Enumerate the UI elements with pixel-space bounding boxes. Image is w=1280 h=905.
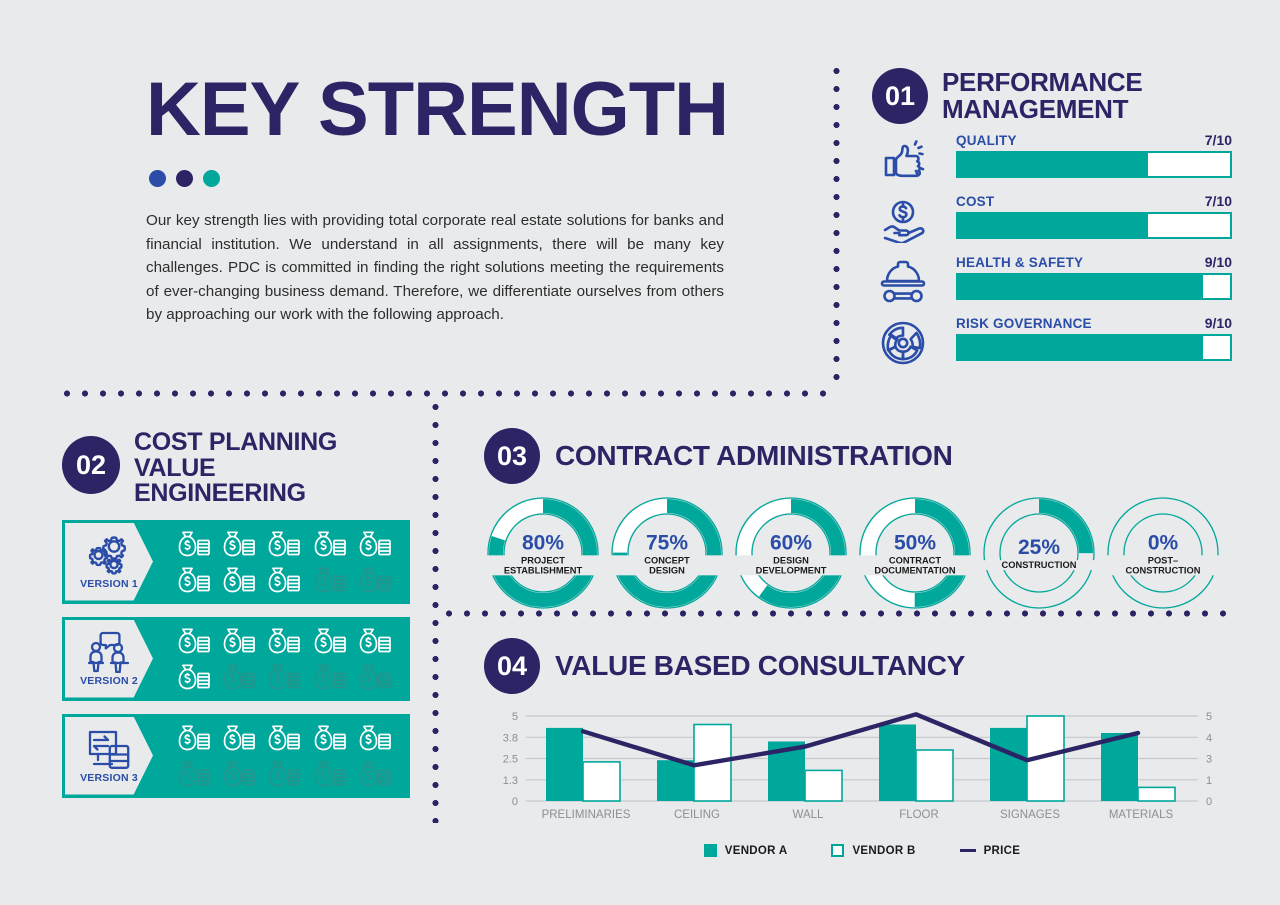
donut-center-text: 60% DESIGNDEVELOPMENT: [732, 532, 850, 575]
brand-dots: [149, 170, 746, 187]
svg-text:WALL: WALL: [793, 809, 824, 821]
y-axis-left-labels: 5 3.8 2.5 1.3 0: [503, 711, 518, 808]
svg-text:3: 3: [1206, 754, 1212, 766]
data-sync-icon: [86, 727, 132, 771]
svg-text:5: 5: [1206, 711, 1212, 723]
donut-chart: 60% DESIGNDEVELOPMENT: [732, 494, 850, 612]
svg-text:5: 5: [512, 711, 518, 723]
legend-swatch-outline-square-icon: [831, 844, 844, 857]
donut-percent: 25%: [980, 537, 1098, 558]
version-label: VERSION 1: [80, 578, 138, 590]
money-bag-icon: [353, 526, 398, 562]
donut-center-text: 75% CONCEPTDESIGN: [608, 532, 726, 575]
hard-hat-icon: [872, 258, 934, 306]
money-bag-icon-dim: [307, 756, 352, 792]
metric-progress-fill: [958, 214, 1148, 237]
metric-score: 9/10: [1205, 254, 1232, 270]
metric-progress-fill: [958, 153, 1148, 176]
svg-text:1: 1: [1206, 775, 1212, 787]
donut-label: CONCEPTDESIGN: [608, 555, 726, 575]
svg-text:FLOOR: FLOOR: [899, 809, 939, 821]
money-bag-icon: [216, 562, 261, 598]
version-row[interactable]: VERSION 1: [62, 520, 410, 604]
section02-title-line1: COST PLANNING: [134, 430, 337, 456]
metric-label: QUALITY: [956, 133, 1017, 148]
donut-label: CONTRACTDOCUMENTATION: [856, 555, 974, 575]
legend-item-vendor-b[interactable]: VENDOR B: [831, 844, 915, 857]
legend-label: VENDOR B: [852, 845, 915, 857]
version-label: VERSION 3: [80, 772, 138, 784]
chart-legend: VENDOR A VENDOR B PRICE: [484, 844, 1240, 857]
money-bag-icon-dim: [262, 756, 307, 792]
legend-swatch-line-icon: [960, 849, 976, 852]
donut-percent: 60%: [732, 532, 850, 553]
donut-percent: 50%: [856, 532, 974, 553]
brand-dot-2: [176, 170, 193, 187]
money-bag-icon: [307, 720, 352, 756]
section-contract-administration: 03 CONTRACT ADMINISTRATION 80% PROJECTES…: [484, 428, 1240, 612]
svg-text:PRELIMINARIES: PRELIMINARIES: [542, 809, 631, 821]
metric-row: QUALITY 7/10: [872, 132, 1232, 185]
section01-title: PERFORMANCE MANAGEMENT: [942, 69, 1142, 122]
money-bag-icon: [171, 623, 216, 659]
version-tag: VERSION 3: [65, 717, 153, 795]
version-tag: VERSION 1: [65, 523, 153, 601]
intro-paragraph: Our key strength lies with providing tot…: [146, 209, 724, 327]
svg-text:SIGNAGES: SIGNAGES: [1000, 809, 1060, 821]
donut-center-text: 50% CONTRACTDOCUMENTATION: [856, 532, 974, 575]
donut-chart: 25% CONSTRUCTION: [980, 494, 1098, 612]
money-bag-icon: [307, 623, 352, 659]
section03-number-badge: 03: [484, 428, 540, 484]
y-axis-right-labels: 5 4 3 1 0: [1206, 711, 1212, 808]
money-bag-icon: [216, 526, 261, 562]
section-value-based-consultancy: 04 VALUE BASED CONSULTANCY 5 3.8 2.5: [484, 638, 1240, 856]
money-bag-icon: [216, 623, 261, 659]
svg-text:4: 4: [1206, 732, 1212, 744]
hero-block: KEY STRENGTH Our key strength lies with …: [146, 72, 746, 327]
donut-label: DESIGNDEVELOPMENT: [732, 555, 850, 575]
metric-progress-bar: [956, 151, 1232, 178]
money-bag-icon: [353, 720, 398, 756]
svg-text:0: 0: [1206, 796, 1212, 808]
money-bag-icon-dim: [353, 562, 398, 598]
donut-percent: 80%: [484, 532, 602, 553]
infographic-page: KEY STRENGTH Our key strength lies with …: [0, 0, 1280, 905]
section01-number-badge: 01: [872, 68, 928, 124]
donut-percent: 75%: [608, 532, 726, 553]
donut-center-text: 25% CONSTRUCTION: [980, 537, 1098, 570]
radiation-icon: [872, 319, 934, 367]
page-title: KEY STRENGTH: [146, 72, 746, 148]
section-cost-planning: 02 COST PLANNING VALUE ENGINEERING: [62, 430, 410, 798]
metric-row: RISK GOVERNANCE 9/10: [872, 315, 1232, 368]
money-bag-icon-dim: [307, 562, 352, 598]
donut-chart: 75% CONCEPTDESIGN: [608, 494, 726, 612]
metric-row: HEALTH & SAFETY 9/10: [872, 254, 1232, 307]
gears-icon: [87, 533, 131, 577]
donut-label: CONSTRUCTION: [980, 560, 1098, 570]
section03-header: 03 CONTRACT ADMINISTRATION: [484, 428, 1240, 484]
version-row[interactable]: VERSION 3: [62, 714, 410, 798]
section-performance-management: 01 PERFORMANCE MANAGEMENT: [872, 68, 1232, 368]
version-tag: VERSION 2: [65, 620, 153, 698]
section01-header: 01 PERFORMANCE MANAGEMENT: [872, 68, 1232, 124]
donut-label: POST–CONSTRUCTION: [1104, 555, 1222, 575]
meeting-icon: [86, 630, 132, 674]
money-bag-icon: [353, 623, 398, 659]
section01-title-line1: PERFORMANCE: [942, 69, 1142, 96]
metric-row: COST 7/10: [872, 193, 1232, 246]
section03-title: CONTRACT ADMINISTRATION: [555, 442, 953, 471]
donut-center-text: 80% PROJECTESTABLISHMENT: [484, 532, 602, 575]
metric-progress-bar: [956, 212, 1232, 239]
metric-score: 9/10: [1205, 315, 1232, 331]
money-bag-icon: [171, 562, 216, 598]
section01-title-line2: MANAGEMENT: [942, 96, 1142, 123]
donut-chart: 50% CONTRACTDOCUMENTATION: [856, 494, 974, 612]
money-bag-icon-dim: [353, 756, 398, 792]
money-bag-grid: [153, 522, 410, 602]
divider-horizontal-top: [58, 390, 830, 397]
section04-number-badge: 04: [484, 638, 540, 694]
money-bag-icon: [262, 526, 307, 562]
money-bag-icon: [262, 623, 307, 659]
metric-label: HEALTH & SAFETY: [956, 255, 1083, 270]
money-bag-icon: [307, 526, 352, 562]
chart-canvas: 5 3.8 2.5 1.3 0 5 4 3 1 0: [484, 706, 1240, 846]
section02-header: 02 COST PLANNING VALUE ENGINEERING: [62, 430, 410, 507]
brand-dot-1: [149, 170, 166, 187]
money-bag-grid: [153, 619, 410, 699]
money-bag-icon: [262, 562, 307, 598]
svg-text:MATERIALS: MATERIALS: [1109, 809, 1174, 821]
x-axis-labels: PRELIMINARIES CEILING WALL FLOOR SIGNAGE…: [542, 809, 1174, 821]
bar-chart: 5 3.8 2.5 1.3 0 5 4 3 1 0: [484, 706, 1240, 856]
svg-text:1.3: 1.3: [503, 775, 518, 787]
money-bag-icon: [171, 659, 216, 695]
svg-text:CEILING: CEILING: [674, 809, 720, 821]
version-label: VERSION 2: [80, 675, 138, 687]
thumbs-up-icon: [872, 136, 934, 184]
donut-center-text: 0% POST–CONSTRUCTION: [1104, 532, 1222, 575]
divider-vertical-right: [833, 62, 840, 384]
money-bag-icon-dim: [307, 659, 352, 695]
brand-dot-3: [203, 170, 220, 187]
section02-title-line3: ENGINEERING: [134, 481, 337, 507]
metric-progress-bar: [956, 334, 1232, 361]
money-bag-icon: [262, 720, 307, 756]
money-bag-grid: [153, 716, 410, 796]
metric-progress-fill: [958, 336, 1203, 359]
legend-label: PRICE: [984, 845, 1021, 857]
legend-item-vendor-a[interactable]: VENDOR A: [704, 844, 788, 857]
donut-chart-row: 80% PROJECTESTABLISHMENT 75% CONCEPTDESI…: [484, 494, 1240, 612]
money-bag-icon: [171, 720, 216, 756]
section02-title: COST PLANNING VALUE ENGINEERING: [134, 430, 337, 507]
metric-label: COST: [956, 194, 994, 209]
money-bag-icon-dim: [353, 659, 398, 695]
metric-progress-fill: [958, 275, 1203, 298]
money-bag-icon-dim: [216, 659, 261, 695]
money-bag-icon: [216, 720, 261, 756]
money-bag-icon: [171, 526, 216, 562]
svg-text:3.8: 3.8: [503, 732, 518, 744]
section04-title: VALUE BASED CONSULTANCY: [555, 652, 965, 681]
metric-progress-bar: [956, 273, 1232, 300]
svg-text:2.5: 2.5: [503, 754, 518, 766]
svg-text:0: 0: [512, 796, 518, 808]
donut-chart: 80% PROJECTESTABLISHMENT: [484, 494, 602, 612]
section04-header: 04 VALUE BASED CONSULTANCY: [484, 638, 1240, 694]
legend-swatch-filled-square-icon: [704, 844, 717, 857]
donut-label: PROJECTESTABLISHMENT: [484, 555, 602, 575]
metric-label: RISK GOVERNANCE: [956, 316, 1092, 331]
section02-number-badge: 02: [62, 436, 120, 494]
version-row[interactable]: VERSION 2: [62, 617, 410, 701]
donut-chart: 0% POST–CONSTRUCTION: [1104, 494, 1222, 612]
divider-vertical-middle: [432, 398, 439, 823]
money-bag-icon-dim: [216, 756, 261, 792]
money-bag-icon-dim: [171, 756, 216, 792]
legend-label: VENDOR A: [725, 845, 788, 857]
legend-item-price[interactable]: PRICE: [960, 845, 1021, 857]
money-bag-icon-dim: [262, 659, 307, 695]
hand-coin-icon: [872, 197, 934, 245]
metric-score: 7/10: [1205, 193, 1232, 209]
section02-title-line2: VALUE: [134, 456, 337, 482]
donut-percent: 0%: [1104, 532, 1222, 553]
metric-score: 7/10: [1205, 132, 1232, 148]
